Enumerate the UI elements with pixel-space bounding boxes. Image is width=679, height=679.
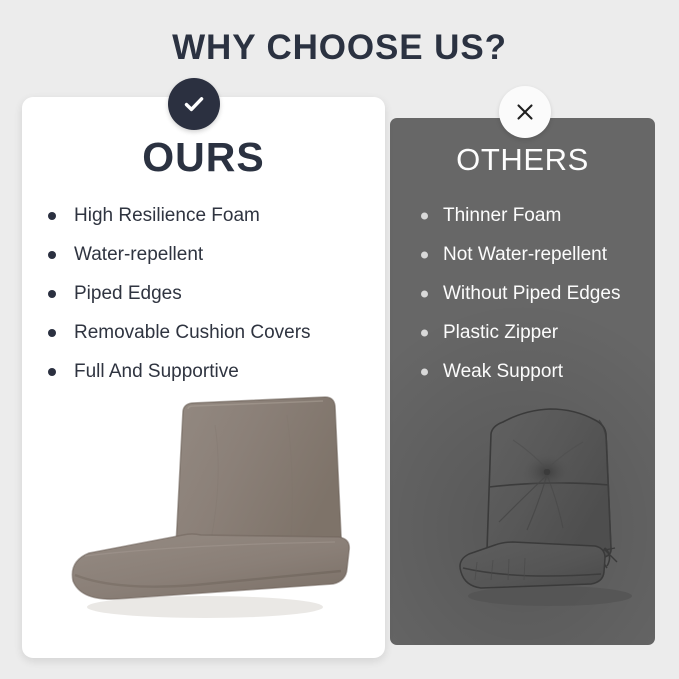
others-feature-label: Thinner Foam xyxy=(443,205,561,227)
others-heading: OTHERS xyxy=(390,142,655,178)
bullet-dot-icon xyxy=(421,251,428,258)
list-item: Without Piped Edges xyxy=(421,274,671,313)
bullet-dot-icon xyxy=(421,290,428,297)
list-item: Not Water-repellent xyxy=(421,235,671,274)
ours-feature-label: Removable Cushion Covers xyxy=(74,322,311,344)
bullet-dot-icon xyxy=(421,329,428,336)
ours-feature-label: Water-repellent xyxy=(74,244,203,266)
list-item: Piped Edges xyxy=(48,274,378,313)
page-title: WHY CHOOSE US? xyxy=(0,26,679,70)
others-feature-label: Weak Support xyxy=(443,361,563,383)
check-icon xyxy=(180,90,208,118)
others-feature-list: Thinner Foam Not Water-repellent Without… xyxy=(421,196,671,391)
bullet-dot-icon xyxy=(48,368,56,376)
bullet-dot-icon xyxy=(48,329,56,337)
list-item: Removable Cushion Covers xyxy=(48,313,378,352)
bullet-dot-icon xyxy=(421,368,428,375)
list-item: Full And Supportive xyxy=(48,352,378,391)
others-feature-label: Without Piped Edges xyxy=(443,283,620,305)
check-badge xyxy=(168,78,220,130)
list-item: High Resilience Foam xyxy=(48,196,378,235)
infographic-canvas: WHY CHOOSE US? xyxy=(0,0,679,679)
close-icon xyxy=(513,100,537,124)
list-item: Thinner Foam xyxy=(421,196,671,235)
others-product-image xyxy=(455,390,645,620)
others-feature-label: Plastic Zipper xyxy=(443,322,558,344)
list-item: Plastic Zipper xyxy=(421,313,671,352)
bullet-dot-icon xyxy=(48,212,56,220)
bullet-dot-icon xyxy=(421,212,428,219)
cross-badge xyxy=(499,86,551,138)
others-feature-label: Not Water-repellent xyxy=(443,244,607,266)
list-item: Water-repellent xyxy=(48,235,378,274)
bullet-dot-icon xyxy=(48,251,56,259)
ours-feature-label: High Resilience Foam xyxy=(74,205,260,227)
ours-product-image xyxy=(55,385,355,625)
bullet-dot-icon xyxy=(48,290,56,298)
ours-feature-label: Full And Supportive xyxy=(74,361,239,383)
ours-feature-list: High Resilience Foam Water-repellent Pip… xyxy=(48,196,378,391)
ours-heading: OURS xyxy=(22,134,385,181)
list-item: Weak Support xyxy=(421,352,671,391)
ours-feature-label: Piped Edges xyxy=(74,283,182,305)
